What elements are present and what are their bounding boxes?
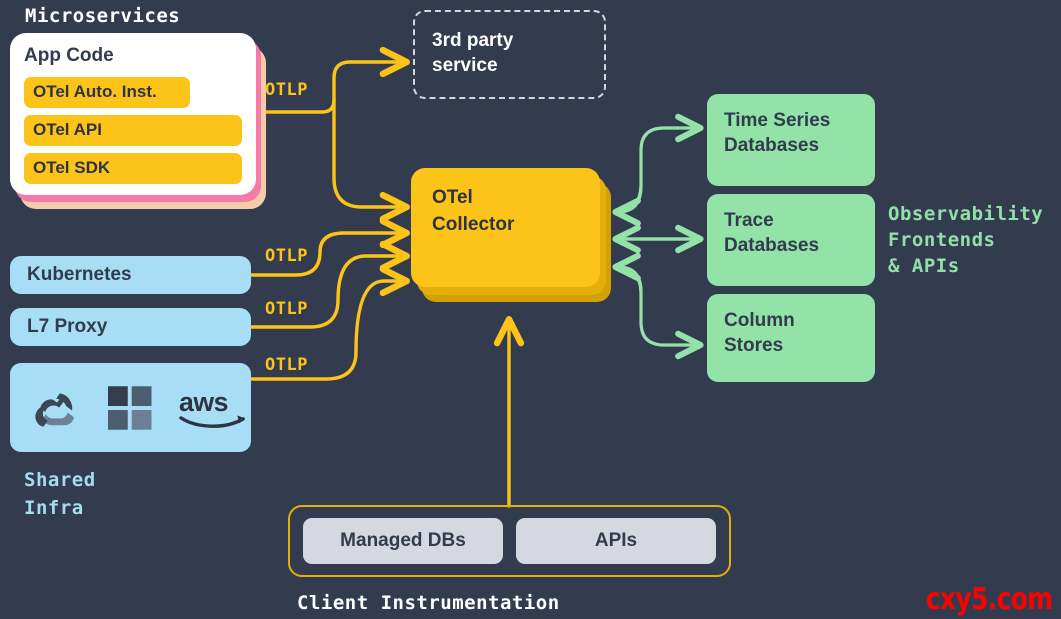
edge-collector-to-timeseries-out xyxy=(615,128,698,212)
edge-label-otlp-appcode: OTLP xyxy=(265,80,308,100)
aws-logo: aws xyxy=(178,385,251,431)
shared-infra-item-l7-proxy[interactable]: L7 Proxy xyxy=(10,308,251,346)
shared-infra-item-cloud-providers[interactable]: aws xyxy=(10,363,251,452)
third-party-service-box[interactable]: 3rd party service xyxy=(413,10,606,99)
edge-label-otlp-l7proxy: OTLP xyxy=(265,299,308,319)
backend-column-line2: Stores xyxy=(724,333,875,358)
microsoft-azure-logo xyxy=(108,386,151,430)
google-cloud-logo xyxy=(31,385,82,431)
backend-box-trace-databases[interactable]: Trace Databases xyxy=(707,194,875,286)
edge-collector-to-column-out xyxy=(615,267,698,345)
site-watermark: cxy5.com xyxy=(926,582,1053,617)
shared-infra-caption: Shared Infra xyxy=(24,466,96,522)
backend-time-series-line2: Databases xyxy=(724,133,875,158)
collector-line1: OTel xyxy=(432,184,600,211)
microservices-caption: Microservices xyxy=(25,5,180,27)
app-code-card-front: App Code OTel Auto. Inst. OTel API OTel … xyxy=(10,33,256,195)
otel-collector-node[interactable]: OTel Collector xyxy=(411,168,611,302)
third-party-line1: 3rd party xyxy=(432,28,604,53)
edge-collector-to-timeseries-in xyxy=(618,186,641,212)
edge-collector-to-column-in xyxy=(618,267,641,292)
collector-stack-layer-front: OTel Collector xyxy=(411,168,600,287)
app-code-item-otel-api[interactable]: OTel API xyxy=(24,115,242,146)
edge-label-otlp-kubernetes: OTLP xyxy=(265,246,308,266)
backend-column-line1: Column xyxy=(724,308,875,333)
svg-text:aws: aws xyxy=(179,386,228,416)
observability-caption: Observability Frontends & APIs xyxy=(888,201,1043,279)
app-code-title: App Code xyxy=(24,44,242,68)
backend-box-time-series-databases[interactable]: Time Series Databases xyxy=(707,94,875,186)
backend-trace-line2: Databases xyxy=(724,233,875,258)
backend-time-series-line1: Time Series xyxy=(724,108,875,133)
app-code-card: App Code OTel Auto. Inst. OTel API OTel … xyxy=(10,33,266,209)
backend-box-column-stores[interactable]: Column Stores xyxy=(707,294,875,382)
client-item-managed-dbs[interactable]: Managed DBs xyxy=(303,518,503,564)
backend-trace-line1: Trace xyxy=(724,208,875,233)
app-code-item-otel-auto-inst[interactable]: OTel Auto. Inst. xyxy=(24,77,190,108)
diagram-canvas: Microservices App Code OTel Auto. Inst. … xyxy=(0,0,1061,619)
kubernetes-label: Kubernetes xyxy=(27,264,251,286)
shared-infra-item-kubernetes[interactable]: Kubernetes xyxy=(10,256,251,294)
client-instrumentation-caption: Client Instrumentation xyxy=(297,592,560,614)
client-item-apis[interactable]: APIs xyxy=(516,518,716,564)
l7-proxy-label: L7 Proxy xyxy=(27,316,251,338)
edge-label-otlp-cloud: OTLP xyxy=(265,355,308,375)
third-party-line2: service xyxy=(432,53,604,78)
collector-line2: Collector xyxy=(432,211,600,238)
app-code-item-otel-sdk[interactable]: OTel SDK xyxy=(24,153,242,184)
client-instrumentation-group: Managed DBs APIs xyxy=(288,505,731,577)
edge-appcode-to-collector xyxy=(334,100,404,207)
